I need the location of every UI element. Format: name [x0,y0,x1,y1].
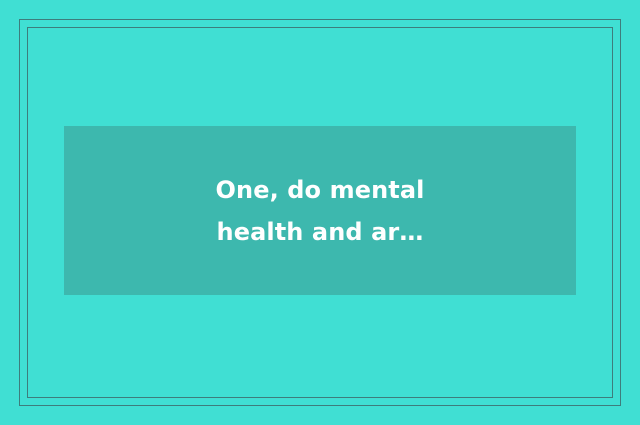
quote-text: One, do mental health and ar… [216,169,425,253]
quote-content-card: One, do mental health and ar… [64,126,576,295]
quote-card-canvas: One, do mental health and ar… [0,0,640,425]
